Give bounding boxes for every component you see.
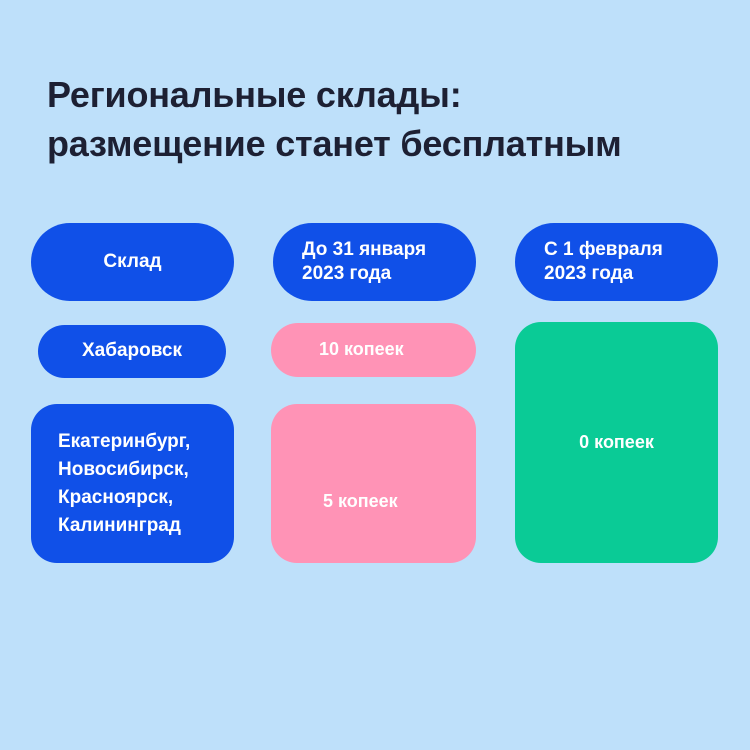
price-before-khabarovsk: 10 копеек xyxy=(271,323,476,377)
table-header-before: До 31 января 2023 года xyxy=(273,223,476,301)
price-before-khabarovsk-value: 10 копеек xyxy=(319,338,404,361)
table-header-after-label: С 1 февраля 2023 года xyxy=(544,238,663,287)
table-header-before-label: До 31 января 2023 года xyxy=(302,238,426,287)
comparison-table: Склад До 31 января 2023 года С 1 февраля… xyxy=(0,0,750,750)
price-before-group: 5 копеек xyxy=(271,404,476,563)
warehouse-name-khabarovsk: Хабаровск xyxy=(82,339,182,363)
table-header-warehouse-label: Склад xyxy=(103,250,161,274)
table-header-after: С 1 февраля 2023 года xyxy=(515,223,718,301)
table-row: Екатеринбург, Новосибирск, Красноярск, К… xyxy=(31,404,234,563)
table-header-warehouse: Склад xyxy=(31,223,234,301)
price-after-merged: 0 копеек xyxy=(515,322,718,563)
price-before-group-value: 5 копеек xyxy=(323,490,398,513)
warehouse-name-group: Екатеринбург, Новосибирск, Красноярск, К… xyxy=(58,428,190,540)
infographic-poster: Региональные склады: размещение станет б… xyxy=(0,0,750,750)
table-row: Хабаровск xyxy=(38,325,226,378)
price-after-merged-value: 0 копеек xyxy=(579,431,654,454)
